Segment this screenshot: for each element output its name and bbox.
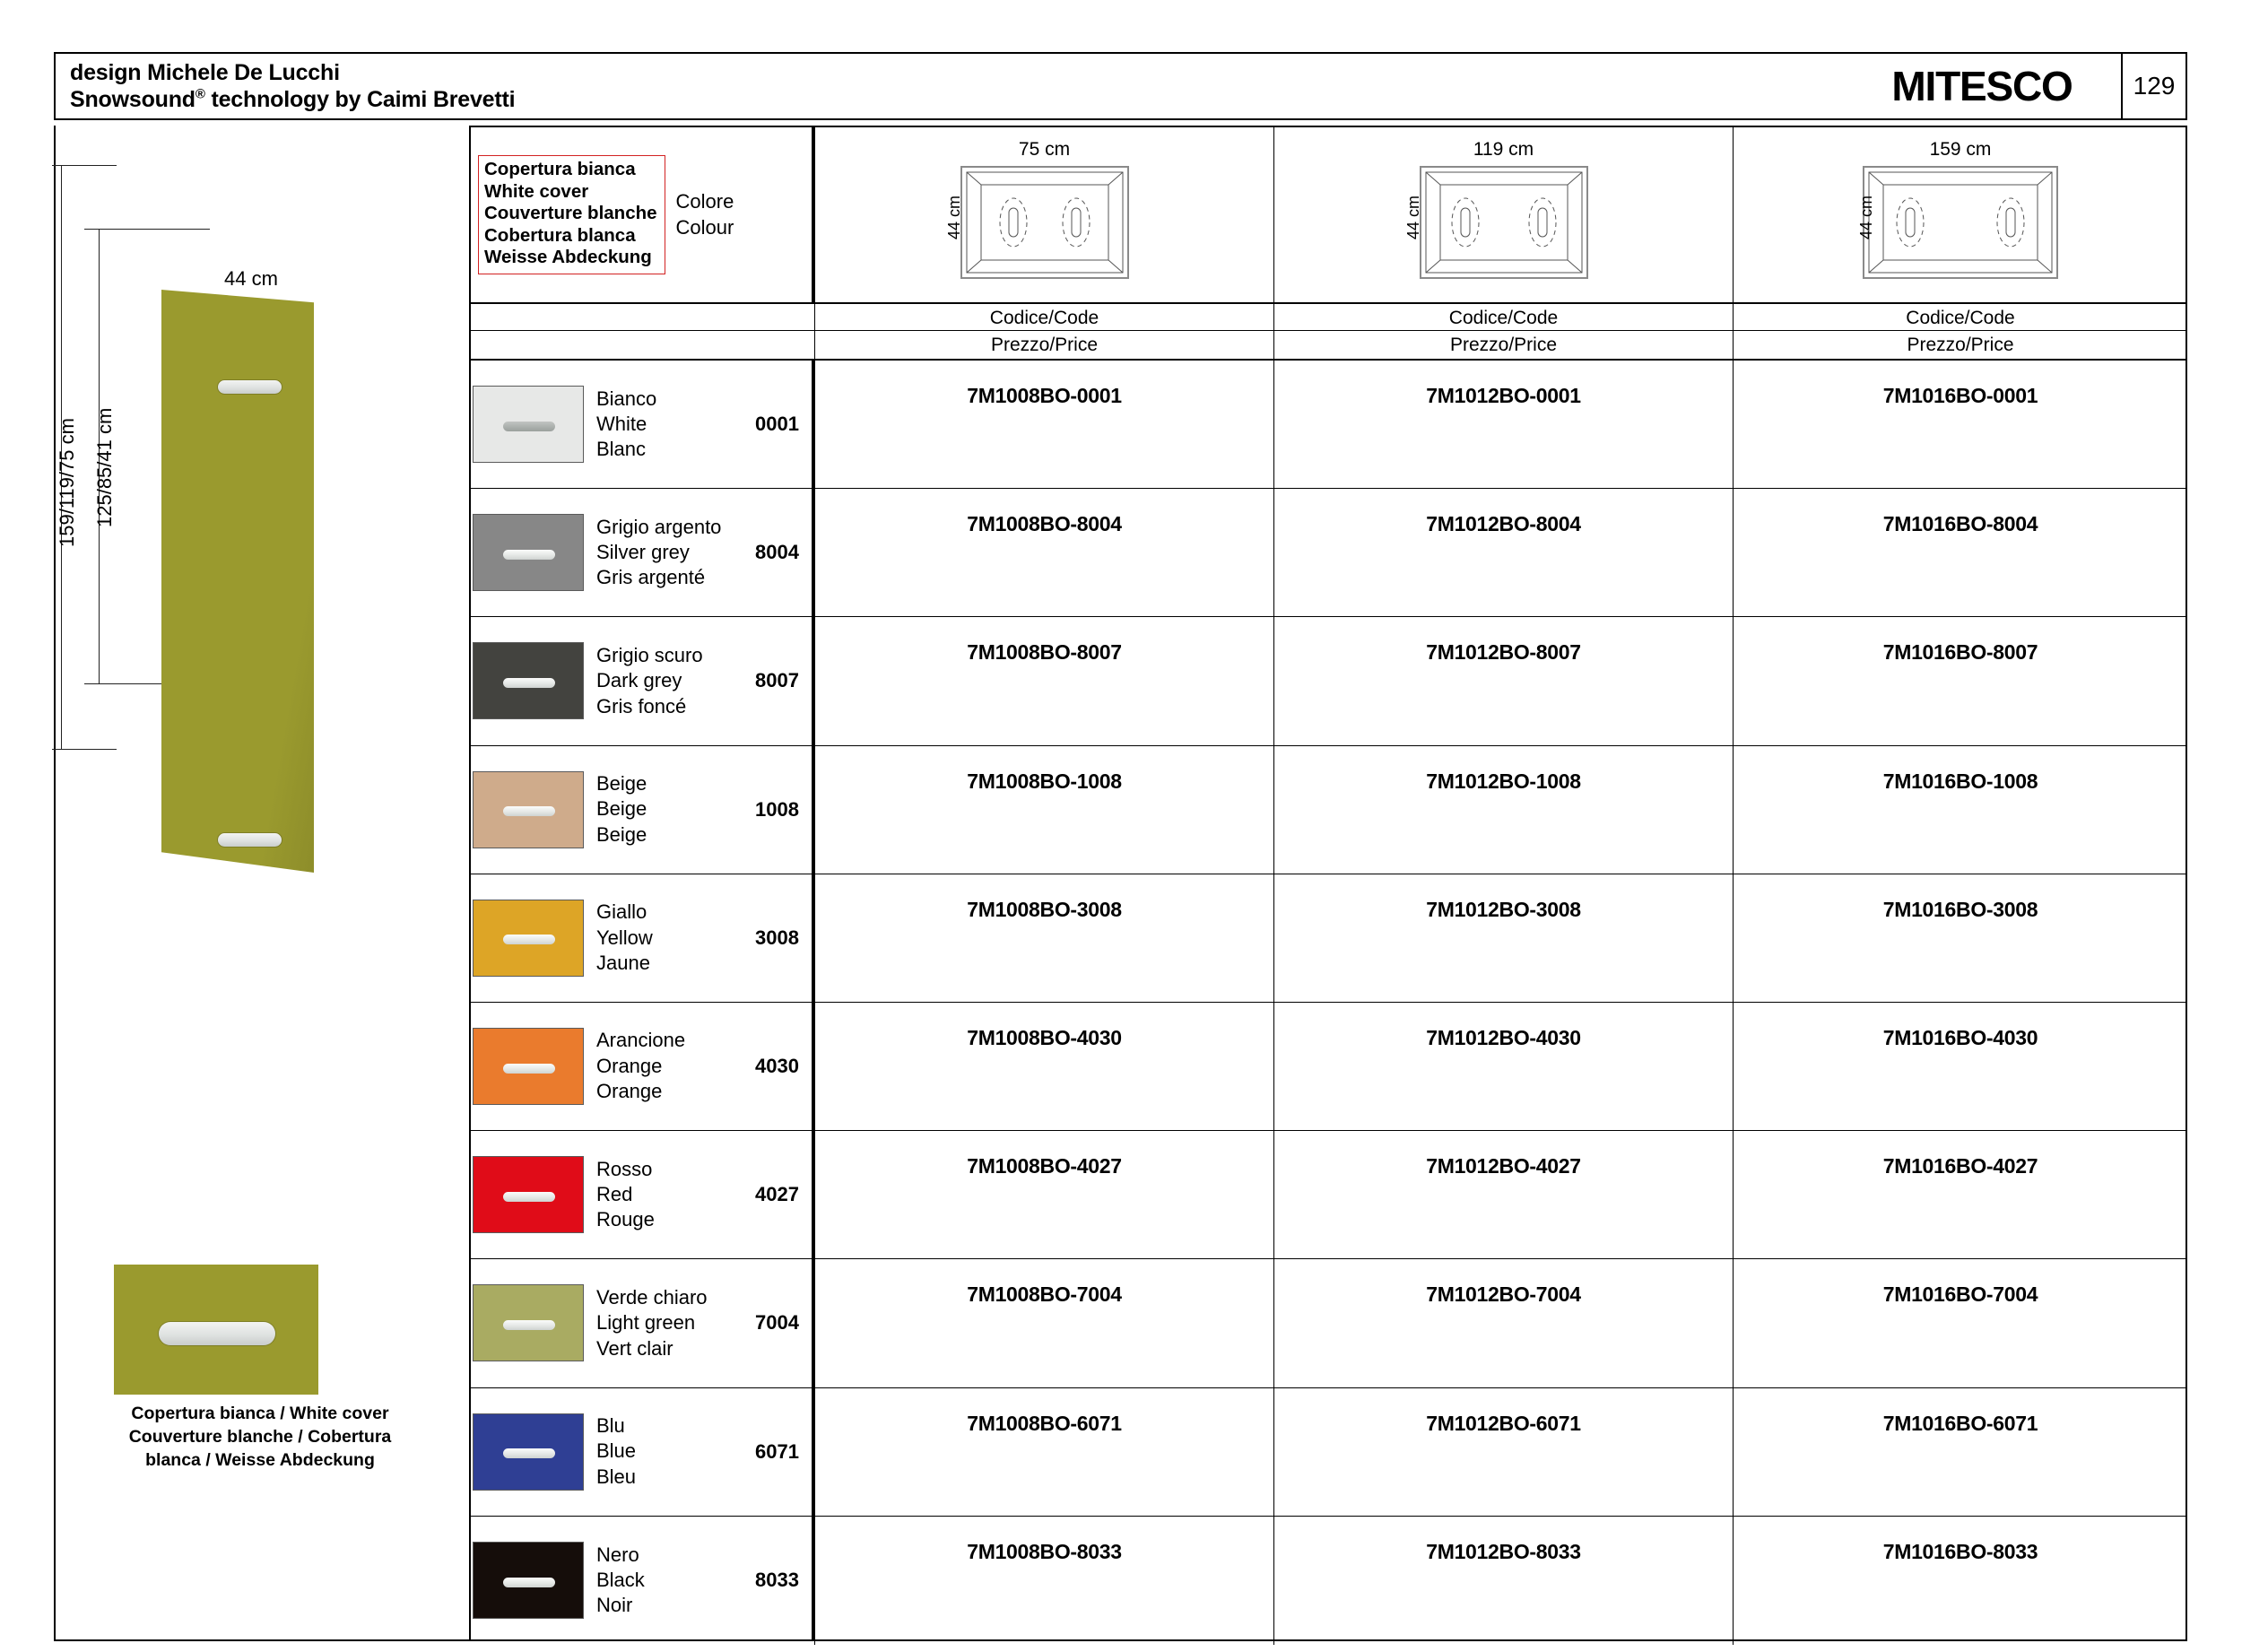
- table-row: NeroBlackNoir80337M1008BO-80337M1012BO-8…: [471, 1517, 2186, 1645]
- colour-name-it: Arancione: [596, 1028, 685, 1053]
- photo-caption-line-2: Couverture blanche / Cobertura: [63, 1426, 457, 1449]
- swatch-slot-icon: [503, 1320, 556, 1330]
- product-code: 7M1016BO-6071: [1733, 1388, 2187, 1516]
- colour-names: NeroBlackNoir: [596, 1543, 645, 1619]
- colour-names: ArancioneOrangeOrange: [596, 1028, 685, 1104]
- prezzo-cell-119: Prezzo/Price: [1273, 331, 1733, 359]
- colour-label-it: Colore: [676, 189, 734, 214]
- colour-name-fr: Gris foncé: [596, 694, 703, 719]
- page-number: 129: [2133, 74, 2176, 99]
- prezzo-label-159: Prezzo/Price: [1907, 335, 2013, 355]
- swatch-slot-icon: [503, 422, 556, 431]
- size-width-label-75: 75 cm: [815, 139, 1273, 161]
- panel-diagram-159-svg: [1862, 165, 2059, 280]
- colour-swatch: [473, 1413, 584, 1491]
- colour-cell: BiancoWhiteBlanc0001: [471, 361, 812, 488]
- swatch-slot-icon: [503, 1448, 556, 1458]
- product-code: 7M1012BO-0001: [1273, 361, 1733, 488]
- colour-name-en: Light green: [596, 1310, 708, 1335]
- panel-slot-bottom: [218, 833, 282, 848]
- product-code: 7M1012BO-4027: [1273, 1131, 1733, 1258]
- swatch-slot-icon: [503, 550, 556, 560]
- acoustic-panel-3d-illustration: [161, 290, 314, 873]
- colour-code: 0001: [755, 413, 799, 436]
- colour-swatch: [473, 514, 584, 591]
- colour-name-it: Blu: [596, 1413, 636, 1439]
- colour-names: BiancoWhiteBlanc: [596, 387, 656, 463]
- colour-name-it: Verde chiaro: [596, 1285, 708, 1310]
- prezzo-label-75: Prezzo/Price: [991, 335, 1098, 355]
- colour-code: 3008: [755, 926, 799, 950]
- photo-caption-line-1: Copertura bianca / White cover: [63, 1403, 457, 1426]
- colour-code: 8033: [755, 1569, 799, 1592]
- codice-cell-119: Codice/Code: [1273, 304, 1733, 332]
- colour-code: 6071: [755, 1440, 799, 1464]
- product-code: 7M1016BO-3008: [1733, 874, 2187, 1002]
- product-code-table: Copertura bianca White cover Couverture …: [471, 126, 2187, 1641]
- product-code: 7M1016BO-8007: [1733, 617, 2187, 744]
- table-row: BeigeBeigeBeige10087M1008BO-10087M1012BO…: [471, 746, 2186, 874]
- panel-inner-height-label: 125/85/41 cm: [93, 408, 117, 527]
- product-code: 7M1016BO-8033: [1733, 1517, 2187, 1645]
- dim-outer-top-tick: [52, 165, 117, 166]
- photo-caption-line-3: blanca / Weisse Abdeckung: [63, 1449, 457, 1473]
- colour-name-en: Blue: [596, 1439, 636, 1464]
- colour-code: 1008: [755, 798, 799, 822]
- colour-name-fr: Orange: [596, 1079, 685, 1104]
- colour-name-it: Giallo: [596, 900, 653, 925]
- colour-name-fr: Beige: [596, 822, 647, 848]
- swatch-slot-icon: [503, 1192, 556, 1202]
- colour-column-header: Copertura bianca White cover Couverture …: [471, 127, 812, 302]
- colour-names: BeigeBeigeBeige: [596, 771, 647, 848]
- colour-code: 4030: [755, 1055, 799, 1078]
- colour-name-en: Beige: [596, 796, 647, 822]
- white-cover-line-es: Cobertura blanca: [484, 225, 657, 248]
- colour-code: 8007: [755, 669, 799, 692]
- colour-cell: Grigio scuroDark greyGris foncé8007: [471, 617, 812, 744]
- panel-diagram-75-svg: [960, 165, 1130, 280]
- colour-swatch: [473, 1156, 584, 1233]
- colour-swatch: [473, 386, 584, 463]
- size-width-label-119: 119 cm: [1274, 139, 1733, 161]
- technology-credit-text: Snowsound: [70, 87, 196, 112]
- swatch-slot-icon: [503, 935, 556, 944]
- colour-names: BluBlueBleu: [596, 1413, 636, 1490]
- product-code: 7M1008BO-0001: [814, 361, 1273, 488]
- product-code: 7M1012BO-4030: [1273, 1003, 1733, 1130]
- codice-cell-159: Codice/Code: [1733, 304, 2187, 332]
- panel-width-label: 44 cm: [170, 267, 332, 291]
- colour-names: Verde chiaroLight greenVert clair: [596, 1285, 708, 1361]
- panel-diagram-119: [1419, 165, 1589, 284]
- colour-cell: BluBlueBleu6071: [471, 1388, 812, 1516]
- colour-name-en: Red: [596, 1182, 655, 1207]
- product-code: 7M1012BO-7004: [1273, 1259, 1733, 1387]
- panel-front-face: [161, 290, 314, 873]
- colour-names: GialloYellowJaune: [596, 900, 653, 976]
- dim-inner-top-tick: [84, 229, 210, 230]
- colour-names: RossoRedRouge: [596, 1157, 655, 1233]
- panel-diagram-75: [960, 165, 1130, 284]
- colour-swatch: [473, 1028, 584, 1105]
- product-code: 7M1016BO-0001: [1733, 361, 2187, 488]
- product-code: 7M1016BO-4027: [1733, 1131, 2187, 1258]
- colour-label-en: Colour: [676, 215, 734, 240]
- product-code: 7M1016BO-1008: [1733, 746, 2187, 874]
- product-code: 7M1008BO-8004: [814, 489, 1273, 616]
- colour-names: Grigio scuroDark greyGris foncé: [596, 643, 703, 719]
- prezzo-label-band: Prezzo/Price Prezzo/Price Prezzo/Price: [471, 330, 2186, 359]
- dim-outer-bottom-tick: [52, 749, 117, 750]
- table-row: Verde chiaroLight greenVert clair70047M1…: [471, 1259, 2186, 1387]
- table-row: RossoRedRouge40277M1008BO-40277M1012BO-4…: [471, 1131, 2186, 1259]
- page-number-box: 129: [2123, 54, 2186, 118]
- product-code: 7M1008BO-4027: [814, 1131, 1273, 1258]
- colour-swatch: [473, 642, 584, 719]
- product-code: 7M1008BO-6071: [814, 1388, 1273, 1516]
- white-cover-callout-box: Copertura bianca White cover Couverture …: [478, 155, 665, 274]
- product-code: 7M1008BO-7004: [814, 1259, 1273, 1387]
- colour-name-it: Beige: [596, 771, 647, 796]
- technology-credit-suffix: technology by Caimi Brevetti: [205, 87, 516, 112]
- product-code: 7M1012BO-6071: [1273, 1388, 1733, 1516]
- size-height-label-75: 44 cm: [945, 196, 964, 239]
- colour-name-fr: Vert clair: [596, 1336, 708, 1361]
- swatch-slot-icon: [503, 678, 556, 688]
- product-code: 7M1016BO-7004: [1733, 1259, 2187, 1387]
- colour-name-fr: Bleu: [596, 1465, 636, 1490]
- swatch-slot-icon: [503, 1064, 556, 1074]
- colour-name-fr: Blanc: [596, 437, 656, 462]
- table-body: BiancoWhiteBlanc00017M1008BO-00017M1012B…: [471, 359, 2186, 1639]
- body-thick-divider: [812, 359, 814, 1639]
- product-code: 7M1012BO-8007: [1273, 617, 1733, 744]
- colour-name-fr: Noir: [596, 1593, 645, 1618]
- colour-name-en: Dark grey: [596, 668, 703, 693]
- colour-name-en: Orange: [596, 1054, 685, 1079]
- colour-name-it: Grigio scuro: [596, 643, 703, 668]
- white-cover-line-it: Copertura bianca: [484, 159, 657, 181]
- codice-label-band: Codice/Code Codice/Code Codice/Code: [471, 302, 2186, 332]
- colour-cell: Grigio argentoSilver greyGris argenté800…: [471, 489, 812, 616]
- colour-cell: ArancioneOrangeOrange4030: [471, 1003, 812, 1130]
- table-row: BiancoWhiteBlanc00017M1008BO-00017M1012B…: [471, 361, 2186, 489]
- size-height-label-159: 44 cm: [1857, 196, 1876, 239]
- colour-name-it: Nero: [596, 1543, 645, 1568]
- table-row: BluBlueBleu60717M1008BO-60717M1012BO-607…: [471, 1388, 2186, 1517]
- colour-code: 8004: [755, 541, 799, 564]
- colour-code: 4027: [755, 1183, 799, 1206]
- colour-swatch: [473, 1542, 584, 1619]
- codice-label-119: Codice/Code: [1449, 308, 1558, 328]
- colour-name-en: Yellow: [596, 926, 653, 951]
- panel-slot-top: [218, 380, 282, 395]
- panel-diagram-119-svg: [1419, 165, 1589, 280]
- white-cover-photo: [114, 1265, 318, 1395]
- page-header: design Michele De Lucchi Snowsound® tech…: [54, 52, 2187, 120]
- codice-label-75: Codice/Code: [990, 308, 1099, 328]
- size-header-159: 159 cm 44 cm: [1733, 127, 2187, 302]
- prezzo-cell-75: Prezzo/Price: [814, 331, 1273, 359]
- panel-outer-height-label: 159/119/75 cm: [56, 418, 79, 547]
- prezzo-label-119: Prezzo/Price: [1450, 335, 1557, 355]
- colour-cell: NeroBlackNoir8033: [471, 1517, 812, 1645]
- colour-name-it: Grigio argento: [596, 515, 721, 540]
- table-row: GialloYellowJaune30087M1008BO-30087M1012…: [471, 874, 2186, 1003]
- table-row: ArancioneOrangeOrange40307M1008BO-40307M…: [471, 1003, 2186, 1131]
- codice-cell-75: Codice/Code: [814, 304, 1273, 332]
- colour-cell: GialloYellowJaune3008: [471, 874, 812, 1002]
- swatch-slot-icon: [503, 806, 556, 816]
- product-code: 7M1016BO-8004: [1733, 489, 2187, 616]
- white-cover-photo-caption: Copertura bianca / White cover Couvertur…: [63, 1403, 457, 1473]
- brand-logo: MITESCO: [1843, 54, 2123, 118]
- colour-name-fr: Gris argenté: [596, 565, 721, 590]
- technology-credit: Snowsound® technology by Caimi Brevetti: [70, 86, 1843, 114]
- product-code: 7M1008BO-8007: [814, 617, 1273, 744]
- product-code: 7M1012BO-1008: [1273, 746, 1733, 874]
- white-cover-slot-photo: [159, 1322, 275, 1345]
- colour-swatch: [473, 1284, 584, 1361]
- colour-cell: Verde chiaroLight greenVert clair7004: [471, 1259, 812, 1387]
- product-code: 7M1008BO-4030: [814, 1003, 1273, 1130]
- brand-name: MITESCO: [1891, 65, 2072, 107]
- colour-names: Grigio argentoSilver greyGris argenté: [596, 515, 721, 591]
- colour-name-en: White: [596, 412, 656, 437]
- codice-label-159: Codice/Code: [1906, 308, 2014, 328]
- prezzo-cell-159: Prezzo/Price: [1733, 331, 2187, 359]
- colour-name-en: Silver grey: [596, 540, 721, 565]
- colour-name-it: Bianco: [596, 387, 656, 412]
- colour-name-it: Rosso: [596, 1157, 655, 1182]
- swatch-slot-icon: [503, 1578, 556, 1587]
- table-row: Grigio scuroDark greyGris foncé80077M100…: [471, 617, 2186, 745]
- table-row: Grigio argentoSilver greyGris argenté800…: [471, 489, 2186, 617]
- colour-cell: BeigeBeigeBeige1008: [471, 746, 812, 874]
- product-code: 7M1008BO-3008: [814, 874, 1273, 1002]
- product-code: 7M1008BO-1008: [814, 746, 1273, 874]
- product-code: 7M1012BO-8033: [1273, 1517, 1733, 1645]
- size-header-119: 119 cm 44 cm: [1273, 127, 1733, 302]
- table-header: Copertura bianca White cover Couverture …: [471, 127, 2186, 359]
- colour-name-en: Black: [596, 1568, 645, 1593]
- colour-name-fr: Jaune: [596, 951, 653, 976]
- panel-diagram-159: [1862, 165, 2059, 284]
- product-code: 7M1012BO-3008: [1273, 874, 1733, 1002]
- product-illustration-pane: 44 cm 159/119/75 cm 125/85/41 cm Copertu…: [54, 126, 471, 1641]
- header-credits: design Michele De Lucchi Snowsound® tech…: [56, 54, 1843, 118]
- product-code: 7M1008BO-8033: [814, 1517, 1273, 1645]
- colour-cell: RossoRedRouge4027: [471, 1131, 812, 1258]
- colour-header-label: Colore Colour: [676, 189, 734, 239]
- size-width-label-159: 159 cm: [1734, 139, 2187, 161]
- white-cover-line-fr: Couverture blanche: [484, 203, 657, 225]
- colour-swatch: [473, 771, 584, 848]
- product-code: 7M1016BO-4030: [1733, 1003, 2187, 1130]
- colour-swatch: [473, 900, 584, 977]
- size-height-label-119: 44 cm: [1404, 196, 1423, 239]
- product-code: 7M1012BO-8004: [1273, 489, 1733, 616]
- designer-credit: design Michele De Lucchi: [70, 59, 1843, 87]
- colour-code: 7004: [755, 1311, 799, 1335]
- colour-name-fr: Rouge: [596, 1207, 655, 1232]
- size-header-75: 75 cm 44 cm: [814, 127, 1273, 302]
- white-cover-line-en: White cover: [484, 181, 657, 204]
- white-cover-line-de: Weisse Abdeckung: [484, 247, 657, 269]
- registered-trademark-icon: ®: [196, 87, 205, 102]
